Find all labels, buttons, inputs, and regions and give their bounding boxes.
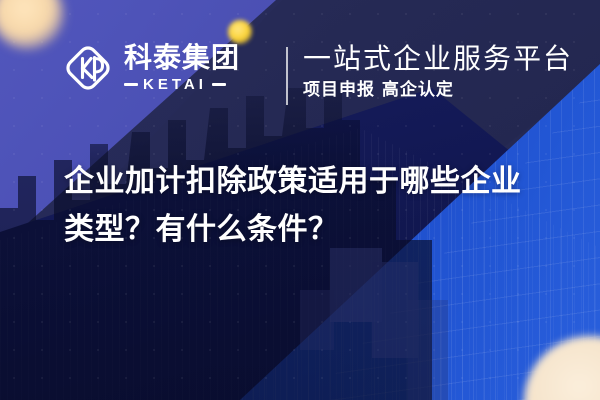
brand-logo: 科泰集团 KETAI	[62, 42, 240, 94]
brand-name-en-row: KETAI	[124, 77, 240, 92]
tagline-group: 一站式企业服务平台 项目申报 高企认定	[303, 42, 573, 101]
ketai-diamond-monogram-icon	[62, 42, 114, 94]
rule-right-icon	[212, 83, 226, 86]
rule-left-icon	[124, 83, 138, 86]
brand-name-cn: 科泰集团	[124, 44, 240, 72]
brand-wordmark: 科泰集团 KETAI	[124, 44, 240, 92]
tagline-primary: 一站式企业服务平台	[303, 42, 573, 76]
headline-line-2: 类型？有什么条件？	[64, 206, 564, 254]
headline-line-1: 企业加计扣除政策适用于哪些企业	[64, 164, 522, 199]
building-block	[300, 290, 334, 350]
headline: 企业加计扣除政策适用于哪些企业 类型？有什么条件？	[64, 158, 564, 254]
banner-header: 科泰集团 KETAI 一站式企业服务平台 项目申报 高企认定	[0, 0, 600, 130]
tagline-secondary: 项目申报 高企认定	[303, 79, 573, 101]
vertical-divider	[286, 47, 288, 105]
brand-name-en: KETAI	[143, 77, 207, 92]
building-block	[408, 300, 448, 400]
promo-banner: 科泰集团 KETAI 一站式企业服务平台 项目申报 高企认定 企业加计扣除政策适…	[0, 0, 600, 400]
